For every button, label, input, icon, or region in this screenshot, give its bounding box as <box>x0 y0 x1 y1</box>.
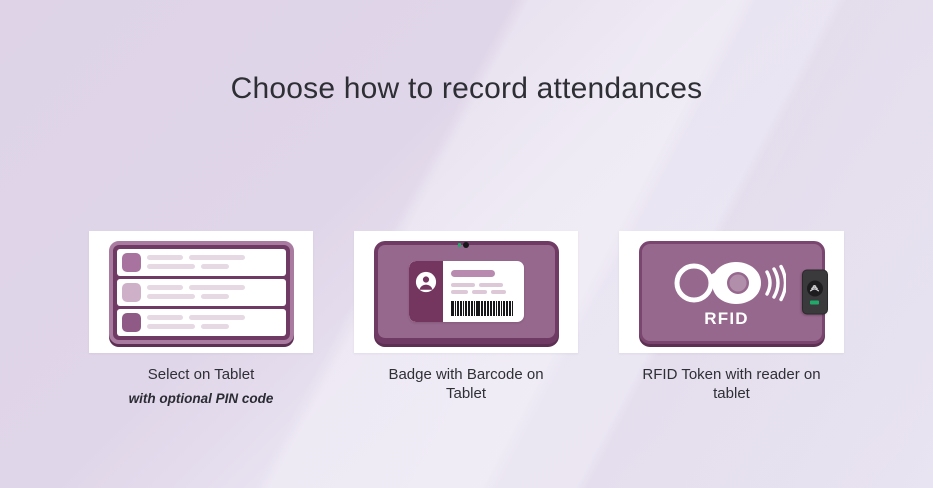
barcode-bar <box>493 301 494 315</box>
contactless-icon <box>809 283 820 293</box>
barcode-bar <box>474 301 475 315</box>
rfid-artwork: RFID <box>668 258 786 329</box>
badge-body <box>443 261 524 322</box>
rfid-label: RFID <box>704 309 748 329</box>
list-item <box>117 249 286 276</box>
avatar <box>122 283 141 302</box>
options-row: Select on Tablet with optional PIN code <box>0 231 933 406</box>
text-line <box>201 264 229 269</box>
camera-icon <box>463 242 469 248</box>
option-3-caption: RFID Token with reader on tablet <box>637 365 827 403</box>
option-1-sub-caption: with optional PIN code <box>129 391 274 406</box>
option-select-on-tablet[interactable]: Select on Tablet with optional PIN code <box>89 231 313 406</box>
tablet-device-badge <box>374 241 559 344</box>
text-line <box>189 285 245 290</box>
barcode-bar <box>478 301 479 315</box>
list-item <box>117 309 286 336</box>
person-circle-icon <box>415 271 437 293</box>
text-line <box>147 255 183 260</box>
attendance-method-chooser: Choose how to record attendances <box>0 0 933 488</box>
barcode-bar <box>507 301 508 315</box>
tablet-device-rfid: RFID <box>639 241 825 344</box>
barcode-bar <box>494 301 495 315</box>
text-line <box>472 290 487 294</box>
text-line <box>479 283 503 287</box>
barcode-bar <box>469 301 470 315</box>
page-title: Choose how to record attendances <box>0 72 933 106</box>
tablet-device-list <box>109 241 294 344</box>
barcode-bar <box>465 301 466 315</box>
badge-photo-panel <box>409 261 443 322</box>
barcode-bar <box>490 301 491 315</box>
option-badge-with-barcode[interactable]: Badge with Barcode on Tablet <box>354 231 578 403</box>
text-line <box>147 294 195 299</box>
barcode-bar <box>509 301 510 315</box>
list-item-text-placeholder <box>147 315 281 329</box>
avatar <box>122 313 141 332</box>
list-item-text-placeholder <box>147 285 281 299</box>
option-1-caption: Select on Tablet <box>106 365 296 384</box>
option-3-art-panel[interactable]: RFID <box>619 231 844 353</box>
text-line <box>147 315 183 320</box>
text-line <box>147 285 183 290</box>
option-2-caption: Badge with Barcode on Tablet <box>371 365 561 403</box>
barcode-bar <box>485 301 486 315</box>
avatar <box>122 253 141 272</box>
text-line <box>189 315 245 320</box>
list-item <box>117 279 286 306</box>
barcode-bar <box>453 301 454 315</box>
option-1-art-panel[interactable] <box>89 231 313 353</box>
barcode-bar <box>482 301 483 315</box>
text-line <box>147 264 195 269</box>
text-line <box>201 294 229 299</box>
barcode-bar <box>472 301 473 315</box>
reader-status-led <box>810 300 819 304</box>
rfid-reader-device[interactable] <box>802 270 828 315</box>
status-led <box>458 243 461 247</box>
barcode-bar <box>503 301 504 315</box>
barcode-bar <box>512 301 513 315</box>
option-rfid-token[interactable]: RFID RFID Token with read <box>619 231 844 403</box>
text-line <box>451 290 468 294</box>
tablet-screen <box>378 245 555 338</box>
badge-card <box>409 261 524 322</box>
barcode-bar <box>461 301 462 315</box>
badge-detail-lines <box>451 283 516 294</box>
barcode-bar <box>451 301 452 315</box>
barcode <box>451 301 513 315</box>
text-line <box>147 324 195 329</box>
rfid-token-icon <box>668 258 786 308</box>
barcode-bar <box>458 301 459 315</box>
text-line <box>189 255 245 260</box>
text-line <box>201 324 229 329</box>
option-2-art-panel[interactable] <box>354 231 578 353</box>
list-item-text-placeholder <box>147 255 281 269</box>
barcode-bar <box>499 301 500 315</box>
badge-name-placeholder <box>451 270 495 278</box>
text-line <box>491 290 506 294</box>
text-line <box>451 283 475 287</box>
reader-sensor <box>807 280 823 296</box>
